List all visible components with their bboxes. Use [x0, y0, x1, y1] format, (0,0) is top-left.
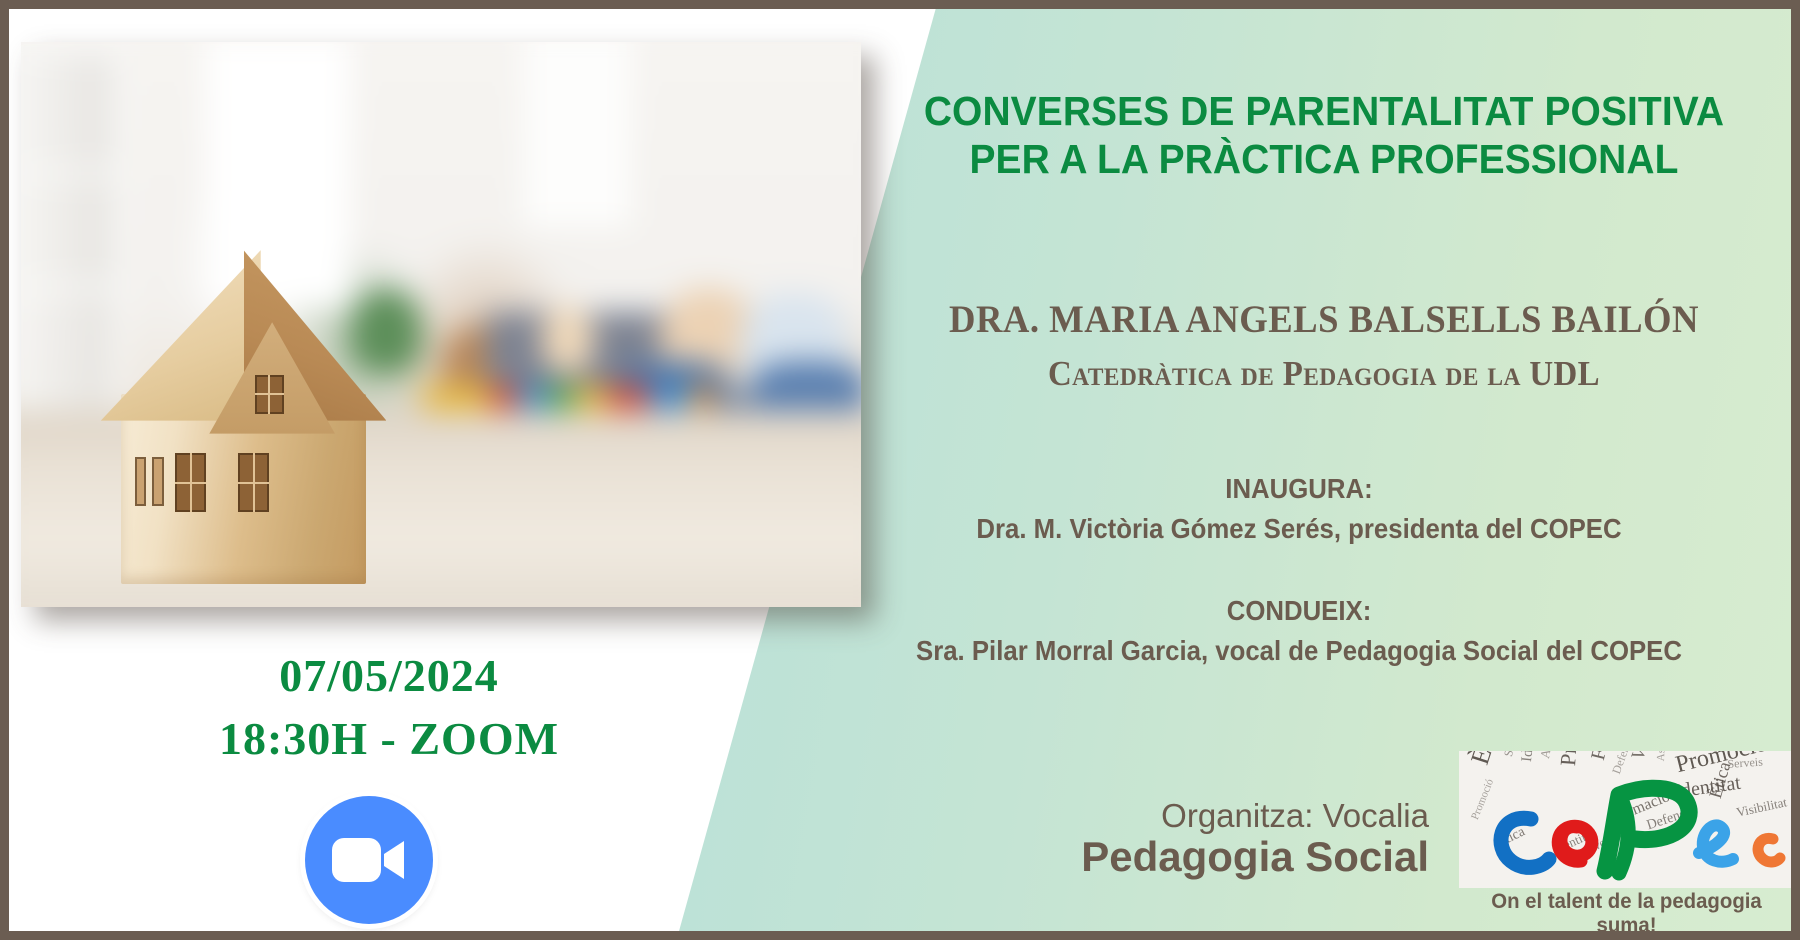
- event-date: 07/05/2024: [39, 649, 739, 702]
- event-datetime-block: 07/05/2024 18:30H - ZOOM: [39, 649, 739, 765]
- video-camera-icon: [332, 838, 406, 882]
- inaugura-heading: INAUGURA:: [839, 469, 1759, 509]
- title-line-1: CONVERSES DE PARENTALITAT POSITIVA: [924, 88, 1724, 134]
- copec-logo: ÈticaServeisIdentitatAcompanyamentPromoc…: [1459, 751, 1794, 926]
- copec-logo-letters: [1459, 751, 1794, 888]
- condueix-heading: CONDUEIX:: [839, 591, 1759, 631]
- speaker-block: DRA. MARIA ANGELS BALSELLS BAILÓN Catedr…: [869, 297, 1779, 394]
- speaker-name: DRA. MARIA ANGELS BALSELLS BAILÓN: [896, 297, 1751, 342]
- hero-photo: [21, 42, 861, 607]
- copec-tagline: On el talent de la pedagogia suma!: [1464, 890, 1789, 938]
- page-title: CONVERSES DE PARENTALITAT POSITIVA PER A…: [892, 87, 1757, 184]
- organizer-prefix: Organitza: Vocalia: [1009, 797, 1429, 835]
- poster-canvas: CONVERSES DE PARENTALITAT POSITIVA PER A…: [0, 0, 1800, 940]
- inaugura-block: INAUGURA: Dra. M. Victòria Gómez Serés, …: [839, 469, 1759, 549]
- organizer-name: Pedagogia Social: [1009, 833, 1429, 881]
- title-line-2: PER A LA PRÀCTICA PROFESSIONAL: [969, 136, 1678, 182]
- condueix-person: Sra. Pilar Morral Garcia, vocal de Pedag…: [839, 631, 1759, 671]
- speaker-role: Catedràtica de Pedagogia de la UDL: [896, 354, 1751, 394]
- zoom-app-icon[interactable]: [305, 796, 433, 924]
- organizer-block: Organitza: Vocalia Pedagogia Social: [1009, 797, 1429, 881]
- wooden-toy-house-icon: [101, 257, 387, 585]
- condueix-block: CONDUEIX: Sra. Pilar Morral Garcia, voca…: [839, 591, 1759, 671]
- inaugura-person: Dra. M. Victòria Gómez Serés, presidenta…: [839, 509, 1759, 549]
- hero-photo-image: [21, 42, 861, 607]
- event-time-platform: 18:30H - ZOOM: [39, 712, 739, 765]
